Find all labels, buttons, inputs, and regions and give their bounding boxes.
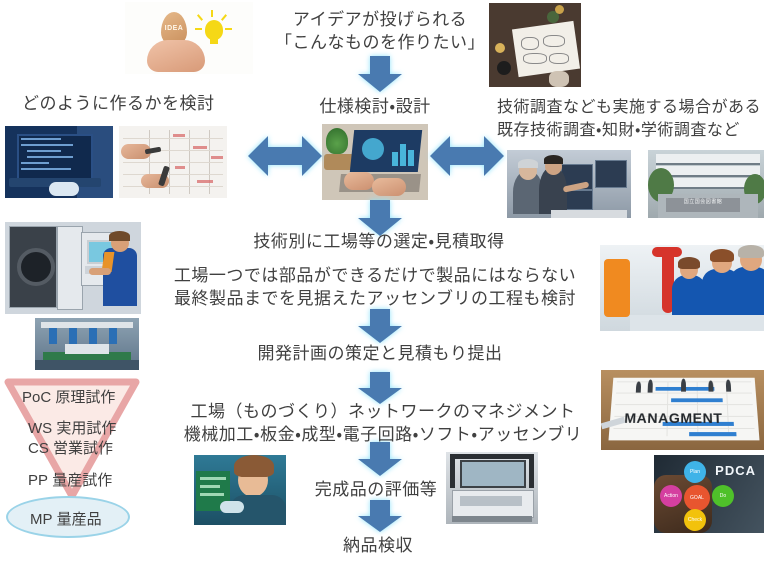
double-arrow-left bbox=[246, 128, 324, 184]
step-how-to-make-text: どのように作るかを検討 bbox=[22, 93, 215, 115]
library-building-photo: 国立国会図書館 bbox=[648, 150, 764, 218]
step-network-mgmt-text: 工場（ものづくり）ネットワークのマネジメント 機械加工・板金・成型・電子回路・ソ… bbox=[184, 400, 582, 446]
sketch-desk-photo bbox=[489, 3, 581, 87]
step-tech-survey-text: 技術調査なども実施する場合がある 既存技術調査・知財・学術調査など bbox=[497, 96, 761, 142]
funnel-stage-cs: CS 営業試作 bbox=[28, 437, 113, 458]
funnel-stage-ws-label: 実用試作 bbox=[56, 420, 116, 437]
funnel-stage-ws-code: WS bbox=[28, 420, 52, 437]
pcb-assembly-line-photo bbox=[35, 318, 139, 370]
funnel-stage-pp-label: 量産試作 bbox=[52, 472, 112, 489]
researchers-monitors-photo bbox=[507, 150, 631, 218]
process-flow-diagram: IDEA bbox=[0, 0, 768, 570]
step-evaluation-text: 完成品の評価等 bbox=[315, 479, 438, 501]
step-dev-plan-text: 開発計画の策定と見積もり提出 bbox=[258, 343, 503, 365]
library-sign-text: 国立国会図書館 bbox=[666, 198, 740, 206]
down-arrow-idea-to-spec bbox=[352, 54, 408, 94]
pdca-cycle-photo: Plan Action GOAL Do Check PDCA bbox=[654, 455, 764, 533]
funnel-stage-cs-code: CS bbox=[28, 440, 49, 457]
down-arrow-evaluation-to-delivery bbox=[352, 498, 408, 534]
step-factory-note-text: 工場一つでは部品ができるだけで製品にはならない 最終製品までを見据えたアッセンブ… bbox=[174, 264, 576, 310]
funnel-stage-poc-label: 原理試作 bbox=[55, 389, 115, 406]
management-board-photo: MANAGMENT bbox=[601, 370, 764, 450]
down-arrow-factory-to-devplan bbox=[352, 307, 408, 345]
step-factory-select-text: 技術別に工場等の選定・見積取得 bbox=[253, 231, 504, 253]
step-delivery-text: 納品検収 bbox=[343, 535, 413, 557]
funnel-stage-poc: PoC 原理試作 bbox=[22, 386, 115, 407]
whiteboard-planning-photo bbox=[119, 126, 227, 198]
funnel-stage-mp-code: MP bbox=[30, 511, 53, 528]
funnel-stage-cs-label: 営業試作 bbox=[53, 440, 113, 457]
funnel-stage-poc-code: PoC bbox=[22, 389, 51, 406]
funnel-stage-mp: MP 量産品 bbox=[30, 508, 102, 529]
lab-technician-photo bbox=[194, 455, 286, 525]
cnc-machine-operator-photo bbox=[5, 222, 141, 314]
funnel-stage-ws: WS 実用試作 bbox=[28, 417, 116, 438]
funnel-stage-pp: PP 量産試作 bbox=[28, 469, 112, 490]
idea-egg-caption: IDEA bbox=[161, 25, 187, 32]
design-laptop-photo bbox=[322, 124, 428, 200]
idea-egg-photo: IDEA bbox=[125, 2, 253, 74]
step-spec-design-text: 仕様検討・設計 bbox=[319, 96, 430, 118]
funnel-stage-mp-label: 量産品 bbox=[57, 511, 102, 528]
pdca-caption: PDCA bbox=[715, 463, 756, 478]
funnel-stage-pp-code: PP bbox=[28, 472, 48, 489]
double-arrow-right bbox=[428, 128, 506, 184]
management-board-text: MANAGMENT bbox=[624, 410, 723, 426]
laptop-code-photo bbox=[5, 126, 113, 198]
assembly-workers-photo bbox=[600, 245, 764, 331]
industrial-machine-photo bbox=[446, 452, 538, 524]
step-idea-text: アイデアが投げられる 「こんなものを作りたい」 bbox=[275, 8, 485, 54]
